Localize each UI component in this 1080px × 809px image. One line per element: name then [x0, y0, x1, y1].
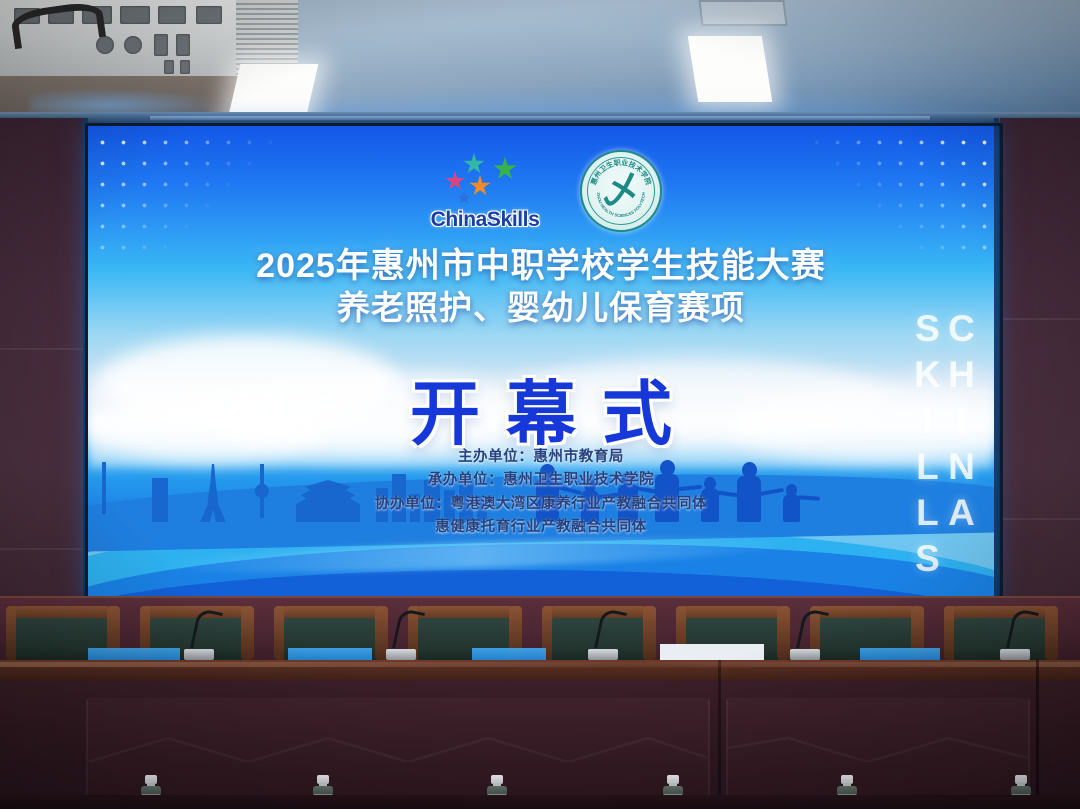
event-title: 2025年惠州市中职学校学生技能大赛 养老照护、婴幼儿保育赛项: [88, 246, 994, 328]
logo-row: ChinaSkills 惠州卫生职业技术学院 HUIZHOU HEALTH SC…: [88, 150, 994, 232]
vertical-chinaskills-text: CHINA SKILLS: [926, 308, 978, 588]
microphone[interactable]: [386, 612, 426, 660]
organizer-line: 主办单位：惠州市教育局: [88, 446, 994, 469]
microphone[interactable]: [588, 612, 628, 660]
ceiling-panel-light: [688, 36, 772, 102]
right-wall-panel: [1000, 118, 1080, 678]
microphone[interactable]: [184, 612, 224, 660]
chinaskills-logo: ChinaSkills: [420, 153, 550, 232]
star-icon: [445, 171, 465, 191]
zigzag-molding: [88, 736, 708, 762]
title-line-2: 养老照护、婴幼儿保育赛项: [88, 288, 994, 329]
left-wall-panel: [0, 118, 86, 678]
table-front-panel: [86, 698, 710, 802]
title-line-1: 2025年惠州市中职学校学生技能大赛: [88, 246, 994, 288]
star-icon: [457, 191, 471, 205]
organizer-list: 主办单位：惠州市教育局 承办单位：惠州卫生职业技术学院 协办单位：粤港澳大湾区康…: [88, 446, 994, 540]
star-icon: [463, 153, 485, 175]
ceremony-headline: 开幕式: [88, 358, 994, 459]
star-icon: [469, 175, 491, 197]
screen-right-frame: [994, 118, 999, 630]
ceiling-vent-grille: [698, 0, 787, 26]
table-highlight: [0, 662, 1080, 667]
table-front-panel: [726, 698, 1030, 802]
led-display-screen: ChinaSkills 惠州卫生职业技术学院 HUIZHOU HEALTH SC…: [88, 126, 994, 604]
microphone[interactable]: [1000, 612, 1040, 660]
chinaskills-wordmark: ChinaSkills: [431, 208, 540, 232]
conference-hall-photo: ChinaSkills 惠州卫生职业技术学院 HUIZHOU HEALTH SC…: [0, 0, 1080, 809]
stars-cluster-icon: [439, 153, 531, 207]
school-emblem-logo: 惠州卫生职业技术学院 HUIZHOU HEALTH SCIENCES POLYT…: [580, 150, 662, 232]
microphone[interactable]: [790, 612, 830, 660]
zigzag-molding: [728, 736, 1028, 762]
foreground-shadow: [0, 795, 1080, 809]
ceiling-rail: [150, 116, 930, 120]
organizer-line: 承办单位：惠州卫生职业技术学院: [88, 469, 994, 492]
emblem-mark: 乄: [603, 172, 639, 208]
table-seam: [1036, 660, 1039, 809]
organizer-line: 惠健康托育行业产教融合共同体: [88, 516, 994, 539]
table-seam: [718, 660, 721, 809]
star-icon: [493, 157, 517, 181]
organizer-line: 协办单位：粤港澳大湾区康养行业产教融合共同体: [88, 493, 994, 516]
